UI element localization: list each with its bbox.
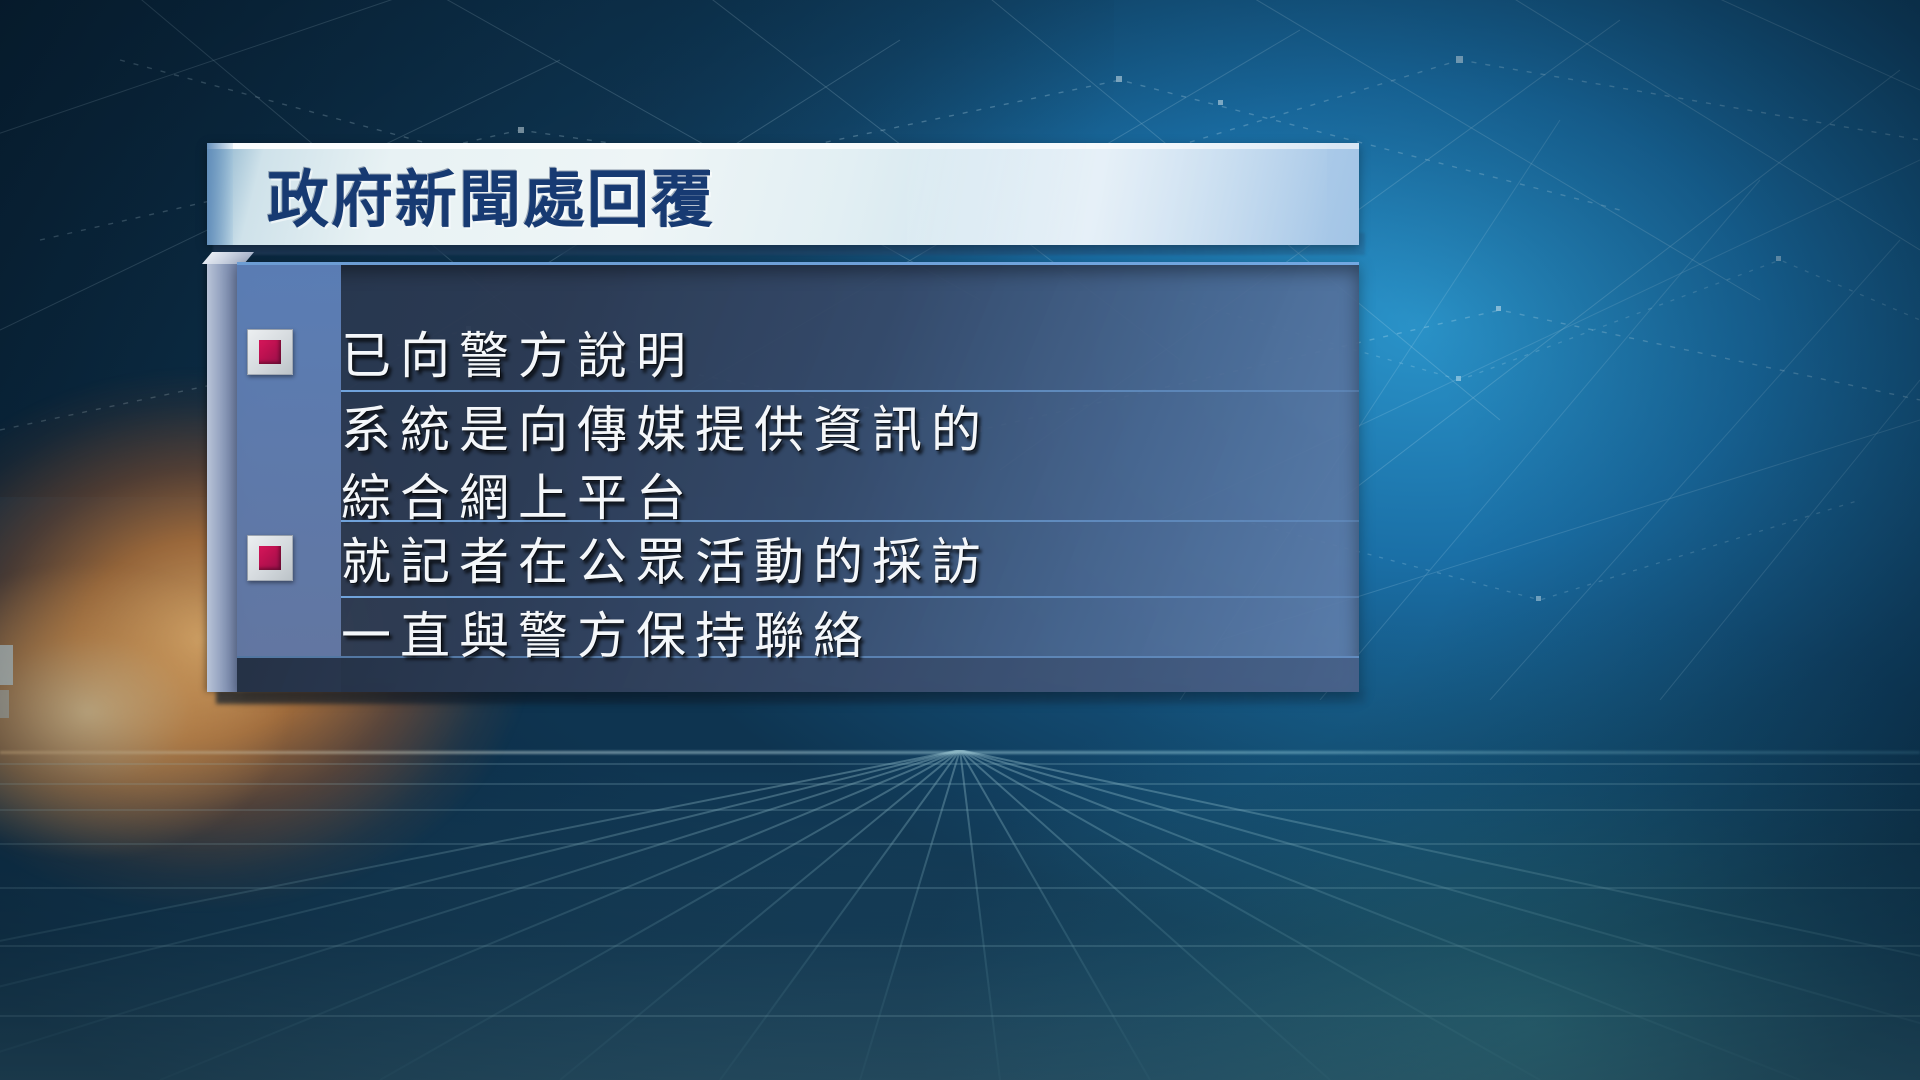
red-square-bullet-icon xyxy=(247,535,293,581)
list-item: 系統是向傳媒提供資訊的 xyxy=(341,390,1359,462)
page-title: 政府新聞處回覆 xyxy=(267,149,715,239)
row-separator xyxy=(341,520,1359,522)
red-square-bullet-icon xyxy=(247,329,293,375)
list-item-label: 已向警方說明 xyxy=(341,316,695,388)
title-bar: 政府新聞處回覆 xyxy=(207,143,1359,245)
list-item: 一直與警方保持聯絡 xyxy=(341,596,1359,668)
row-separator xyxy=(341,596,1359,598)
list-item-label: 系統是向傳媒提供資訊的 xyxy=(341,390,990,462)
list-item-label: 一直與警方保持聯絡 xyxy=(341,596,872,668)
title-bar-sheen xyxy=(907,143,1327,245)
list-item: 就記者在公眾活動的採訪 xyxy=(341,520,1359,596)
content-panel-shadow xyxy=(216,690,1366,704)
content-panel: 已向警方說明 系統是向傳媒提供資訊的 綜合網上平台 就記者在公眾活動的採訪 一直… xyxy=(207,262,1359,692)
list-item: 已向警方說明 xyxy=(341,314,1359,390)
content-panel-side-face xyxy=(207,262,237,692)
list-item-label: 就記者在公眾活動的採訪 xyxy=(341,522,990,594)
row-separator xyxy=(341,390,1359,392)
